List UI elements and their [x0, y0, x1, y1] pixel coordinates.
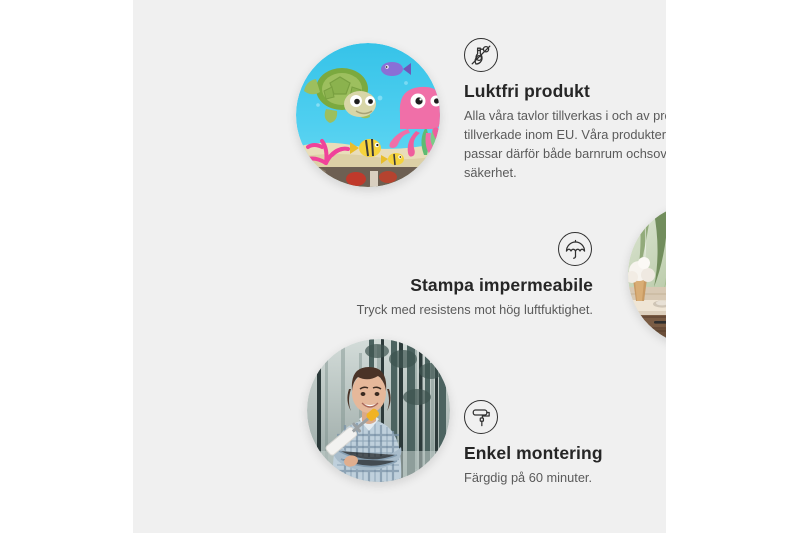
feature-title: Luktfri produkt — [464, 81, 666, 102]
feature-description: Alla våra tavlor tillverkas i och av pro… — [464, 107, 666, 183]
feature-description: Färgdig på 60 minuter. — [464, 469, 666, 488]
feature-description: Tryck med resistens mot hög luftfuktighe… — [291, 301, 593, 320]
paint-roller-icon — [464, 400, 498, 434]
content-panel: Luktfri produkt Alla våra tavlor tillver… — [133, 0, 666, 533]
underwater-scene-photo — [296, 43, 440, 187]
feature-block-easy-mount: Enkel montering Färgdig på 60 minuter. — [464, 400, 666, 488]
feature-title: Stampa impermeabile — [291, 275, 593, 296]
no-fragrance-icon — [464, 38, 498, 72]
feature-title: Enkel montering — [464, 443, 666, 464]
infographic-page: Luktfri produkt Alla våra tavlor tillver… — [0, 0, 800, 533]
feature-block-odourless: Luktfri produkt Alla våra tavlor tillver… — [464, 38, 666, 183]
bathroom-interior-photo — [628, 203, 666, 346]
feature-block-waterproof: Stampa impermeabile Tryck med resistens … — [291, 232, 593, 320]
umbrella-icon — [558, 232, 592, 266]
installer-woman-photo — [307, 339, 450, 482]
